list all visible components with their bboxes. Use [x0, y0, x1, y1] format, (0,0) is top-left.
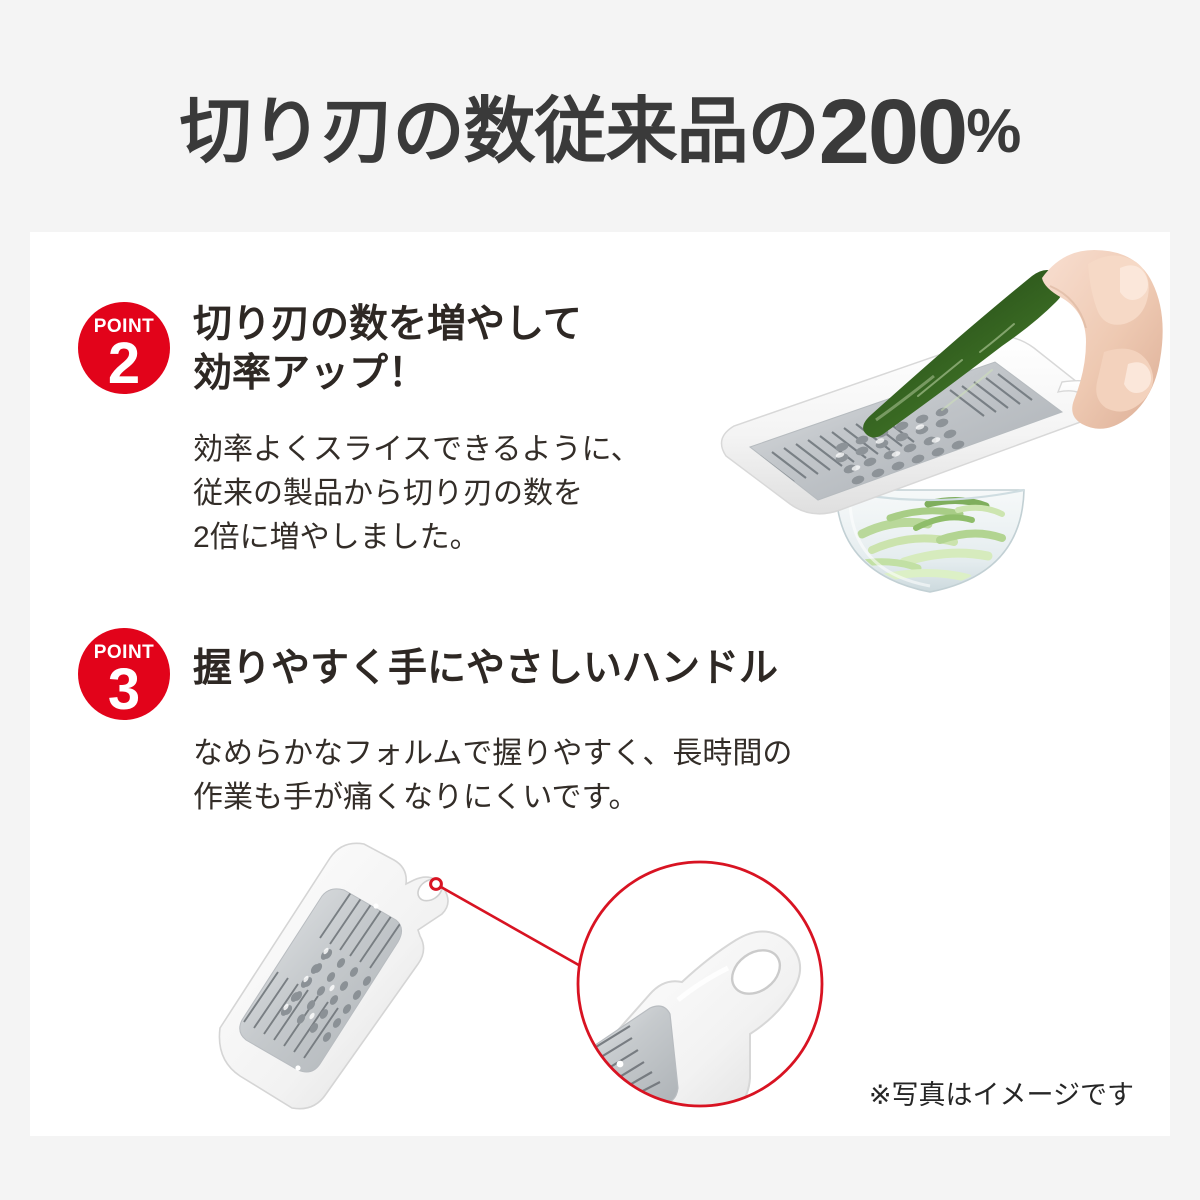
callout-anchor-dot [431, 879, 442, 890]
point-badge-number-2: 2 [78, 337, 170, 390]
point-body-3: なめらかなフォルムで握りやすく、長時間の 作業も手が痛くなりにくいです。 [193, 732, 792, 820]
footer-disclaimer: ※写真はイメージです [869, 1073, 1134, 1112]
handle-detail-illustration [180, 832, 840, 1122]
callout-connector [431, 879, 584, 968]
page-headline: 切り刃の数従来品の200% [0, 86, 1200, 178]
headline-japanese-text: 切り刃の数従来品の [180, 92, 819, 172]
slicer-body [722, 336, 1117, 513]
content-card: POINT 2 切り刃の数を増やして 効率アップ！ 効率よくスライスできるように… [30, 232, 1170, 1136]
glass-bowl [836, 490, 1024, 592]
headline-number: 200 [819, 81, 967, 183]
headline-percent: % [966, 97, 1020, 166]
point-heading-3: 握りやすく手にやさしいハンドル [193, 644, 778, 693]
point-badge-3: POINT 3 [78, 628, 170, 720]
point-badge-number-3: 3 [78, 663, 170, 716]
product-photo-slicing [690, 242, 1170, 602]
point-heading-2: 切り刃の数を増やして 効率アップ！ [193, 300, 582, 398]
magnified-handle-detail [574, 860, 826, 1122]
point-badge-2: POINT 2 [78, 302, 170, 394]
grater-full-view [219, 843, 448, 1108]
product-feature-page: 切り刃の数従来品の200% POINT 2 切り刃の数を増やして 効率アップ！ … [0, 0, 1200, 1200]
point-body-2: 効率よくスライスできるように、 従来の製品から切り刃の数を 2倍に増やしました。 [193, 428, 641, 559]
